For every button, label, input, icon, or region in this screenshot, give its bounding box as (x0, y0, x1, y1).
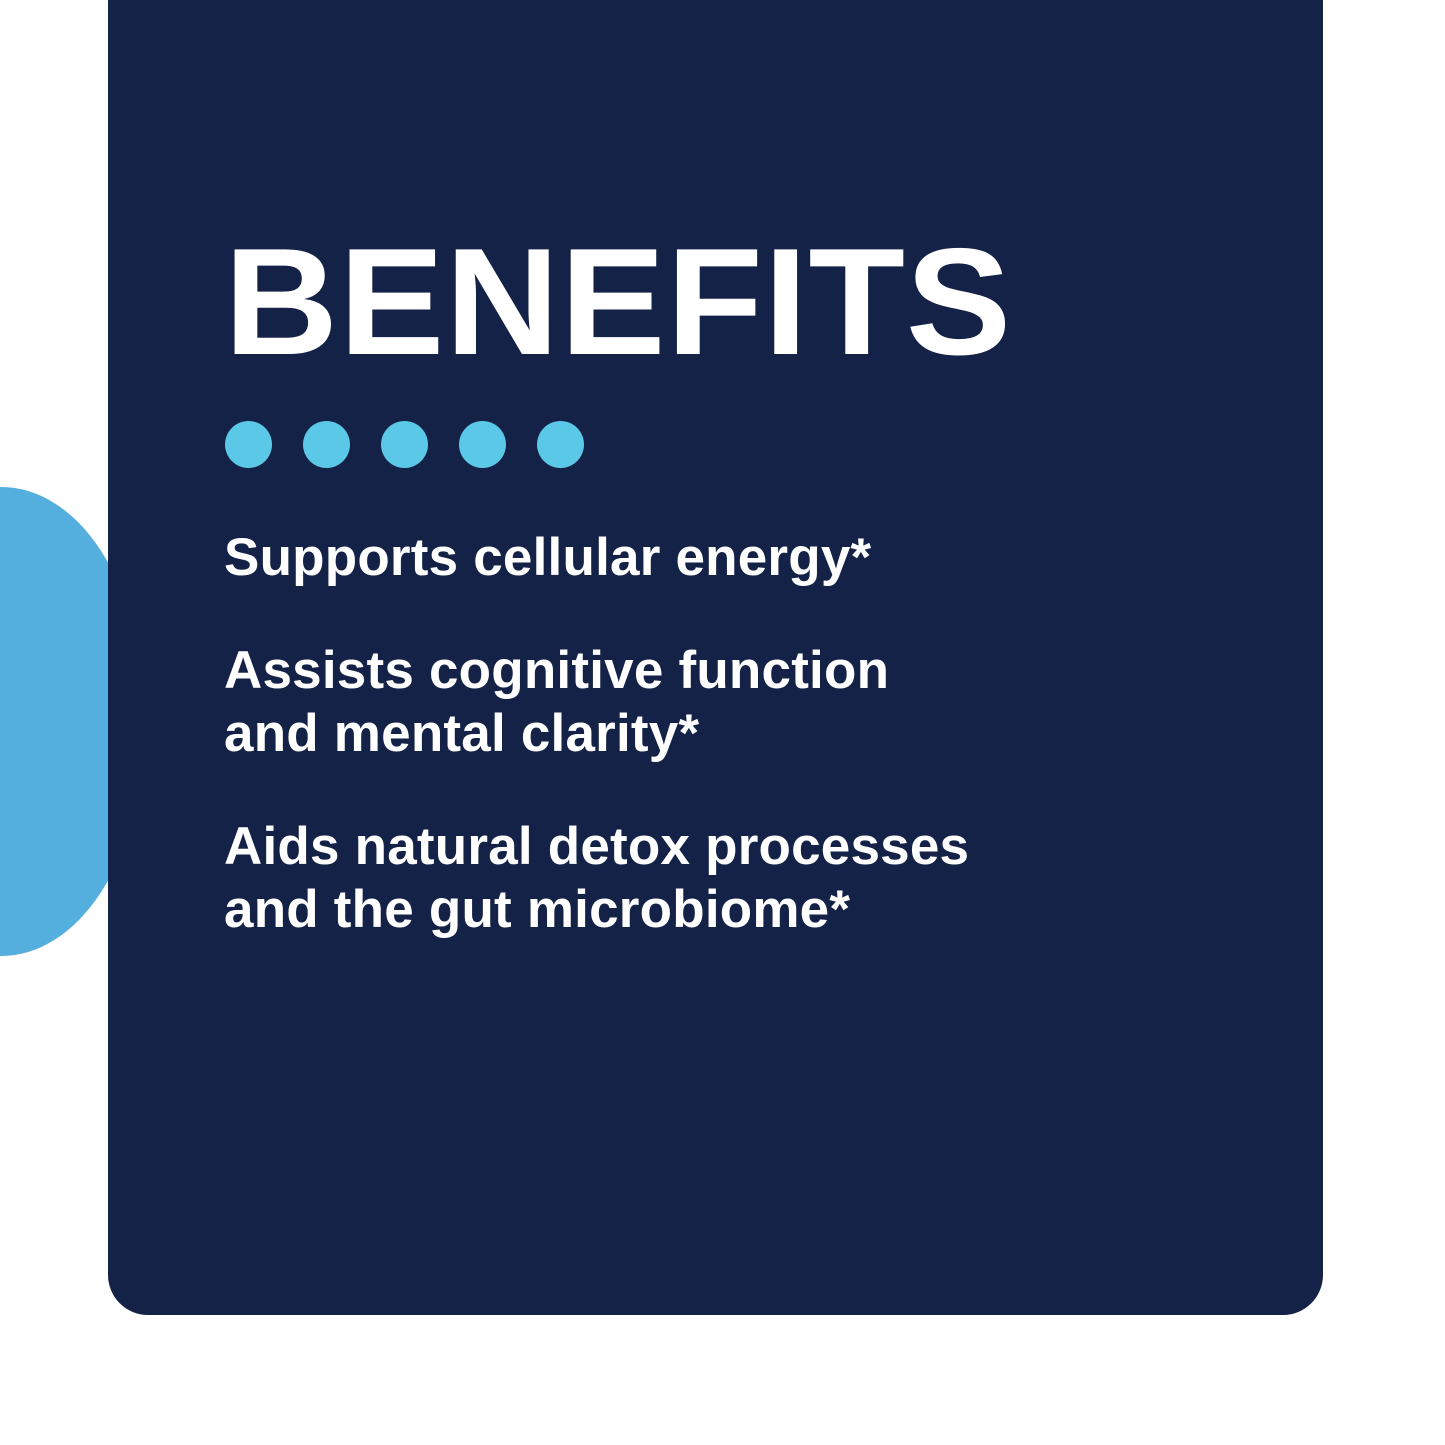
benefits-card: BENEFITS Supports cellular energy* Assis… (108, 0, 1323, 1315)
dot-row-icon (225, 421, 1283, 468)
benefit-item-1: Supports cellular energy* (224, 526, 1283, 589)
benefit-item-2: Assists cognitive function and mental cl… (224, 639, 1283, 765)
dot-1-icon (225, 421, 272, 468)
card-content: BENEFITS Supports cellular energy* Assis… (224, 243, 1283, 941)
benefits-graphic: BENEFITS Supports cellular energy* Assis… (0, 0, 1445, 1445)
dot-4-icon (459, 421, 506, 468)
benefits-list: Supports cellular energy* Assists cognit… (224, 526, 1283, 941)
dot-3-icon (381, 421, 428, 468)
dot-2-icon (303, 421, 350, 468)
page-title: BENEFITS (224, 243, 1325, 362)
dot-5-icon (537, 421, 584, 468)
benefit-item-3: Aids natural detox processes and the gut… (224, 815, 1283, 941)
